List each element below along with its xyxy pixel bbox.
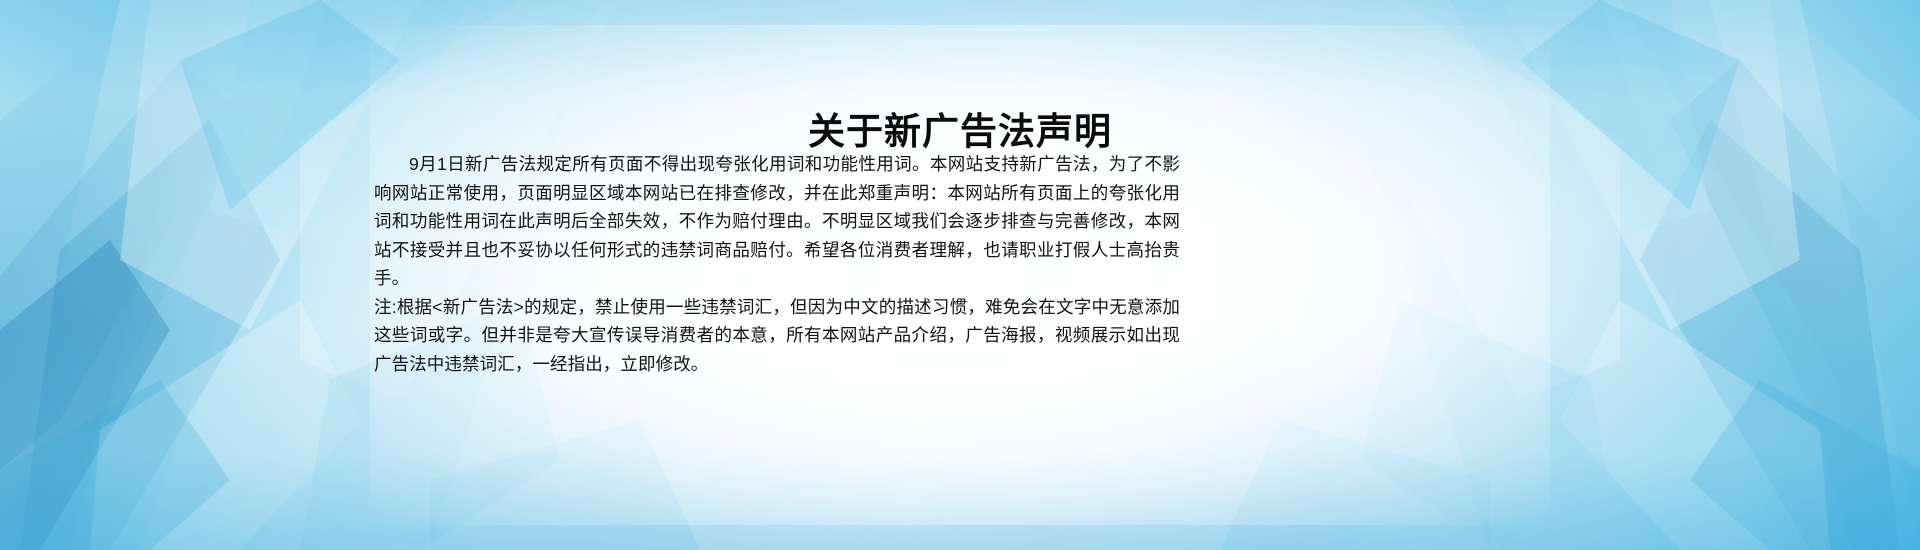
statement-paragraph-1: 9月1日新广告法规定所有页面不得出现夸张化用词和功能性用词。本网站支持新广告法，… (374, 150, 1180, 293)
banner-stage: 关于新广告法声明 9月1日新广告法规定所有页面不得出现夸张化用词和功能性用词。本… (0, 0, 1920, 550)
statement-body: 9月1日新广告法规定所有页面不得出现夸张化用词和功能性用词。本网站支持新广告法，… (374, 150, 1180, 378)
statement-content: 关于新广告法声明 9月1日新广告法规定所有页面不得出现夸张化用词和功能性用词。本… (0, 0, 1920, 550)
statement-paragraph-2: 注:根据<新广告法>的规定，禁止使用一些违禁词汇，但因为中文的描述习惯，难免会在… (374, 293, 1180, 379)
page-title: 关于新广告法声明 (0, 109, 1920, 155)
